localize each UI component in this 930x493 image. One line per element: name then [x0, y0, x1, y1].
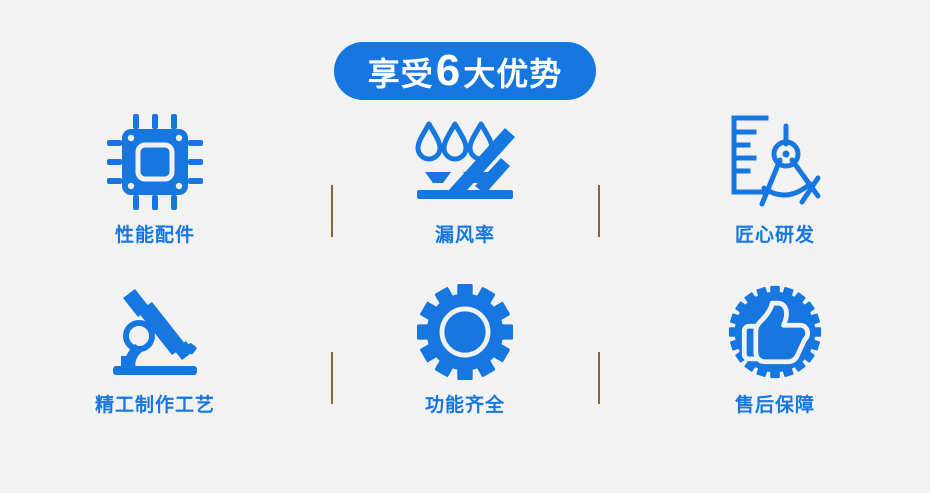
- feature-item-craftsmanship: 精工制作工艺: [0, 282, 310, 442]
- headline-prefix: 享受: [368, 58, 434, 90]
- column-divider: [331, 185, 333, 237]
- feature-label: 性能配件: [115, 226, 195, 245]
- feature-grid: 性能配件: [0, 112, 930, 442]
- feature-label: 精工制作工艺: [95, 396, 215, 415]
- column-divider: [598, 185, 600, 237]
- headline-banner: 享受6大优势: [334, 42, 597, 100]
- feature-item-full-function: 功能齐全: [310, 282, 620, 442]
- feature-label: 功能齐全: [425, 396, 505, 415]
- feature-item-after-sales: 售后保障: [620, 282, 930, 442]
- cpu-chip-icon: [103, 112, 207, 212]
- water-drops-leak-icon: [409, 112, 521, 212]
- headline-text: 享受6大优势: [368, 49, 563, 93]
- promo-features-panel: 享受6大优势: [0, 0, 930, 493]
- feature-label: 匠心研发: [735, 226, 815, 245]
- headline-suffix: 大优势: [463, 58, 562, 90]
- feature-label: 售后保障: [735, 396, 815, 415]
- column-divider: [598, 352, 600, 404]
- gear-icon: [417, 282, 513, 382]
- thumbs-up-badge-icon: [727, 282, 823, 382]
- banner-container: 享受6大优势: [0, 42, 930, 100]
- feature-item-performance-parts: 性能配件: [0, 112, 310, 272]
- microscope-icon: [105, 282, 205, 382]
- ruler-compass-icon: [722, 112, 828, 212]
- feature-label: 漏风率: [435, 226, 495, 245]
- column-divider: [331, 352, 333, 404]
- feature-item-rnd: 匠心研发: [620, 112, 930, 272]
- headline-count: 6: [434, 49, 463, 93]
- feature-item-air-leakage: 漏风率: [310, 112, 620, 272]
